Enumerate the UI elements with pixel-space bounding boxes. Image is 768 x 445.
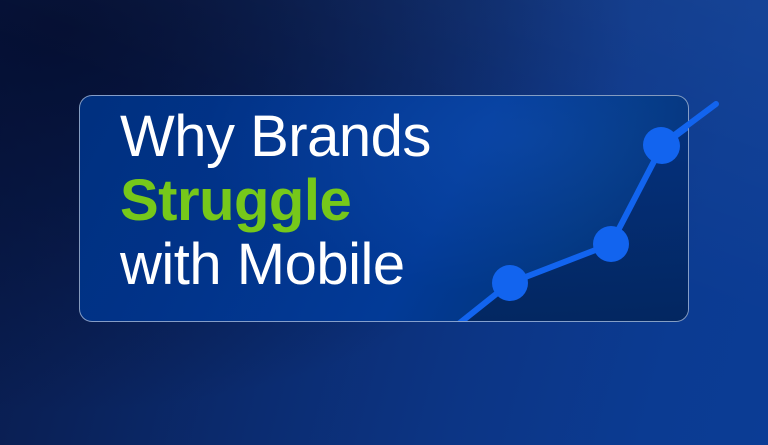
headline-line-1: Why Brands: [120, 108, 590, 166]
chart-data-point: [593, 226, 629, 262]
poster-canvas: Why Brands Struggle with Mobile: [0, 0, 768, 445]
headline-line-3: with Mobile: [120, 236, 590, 294]
chart-data-point: [644, 128, 680, 164]
headline-block: Why Brands Struggle with Mobile: [120, 108, 590, 294]
headline-line-2-emphasis: Struggle: [120, 172, 590, 230]
